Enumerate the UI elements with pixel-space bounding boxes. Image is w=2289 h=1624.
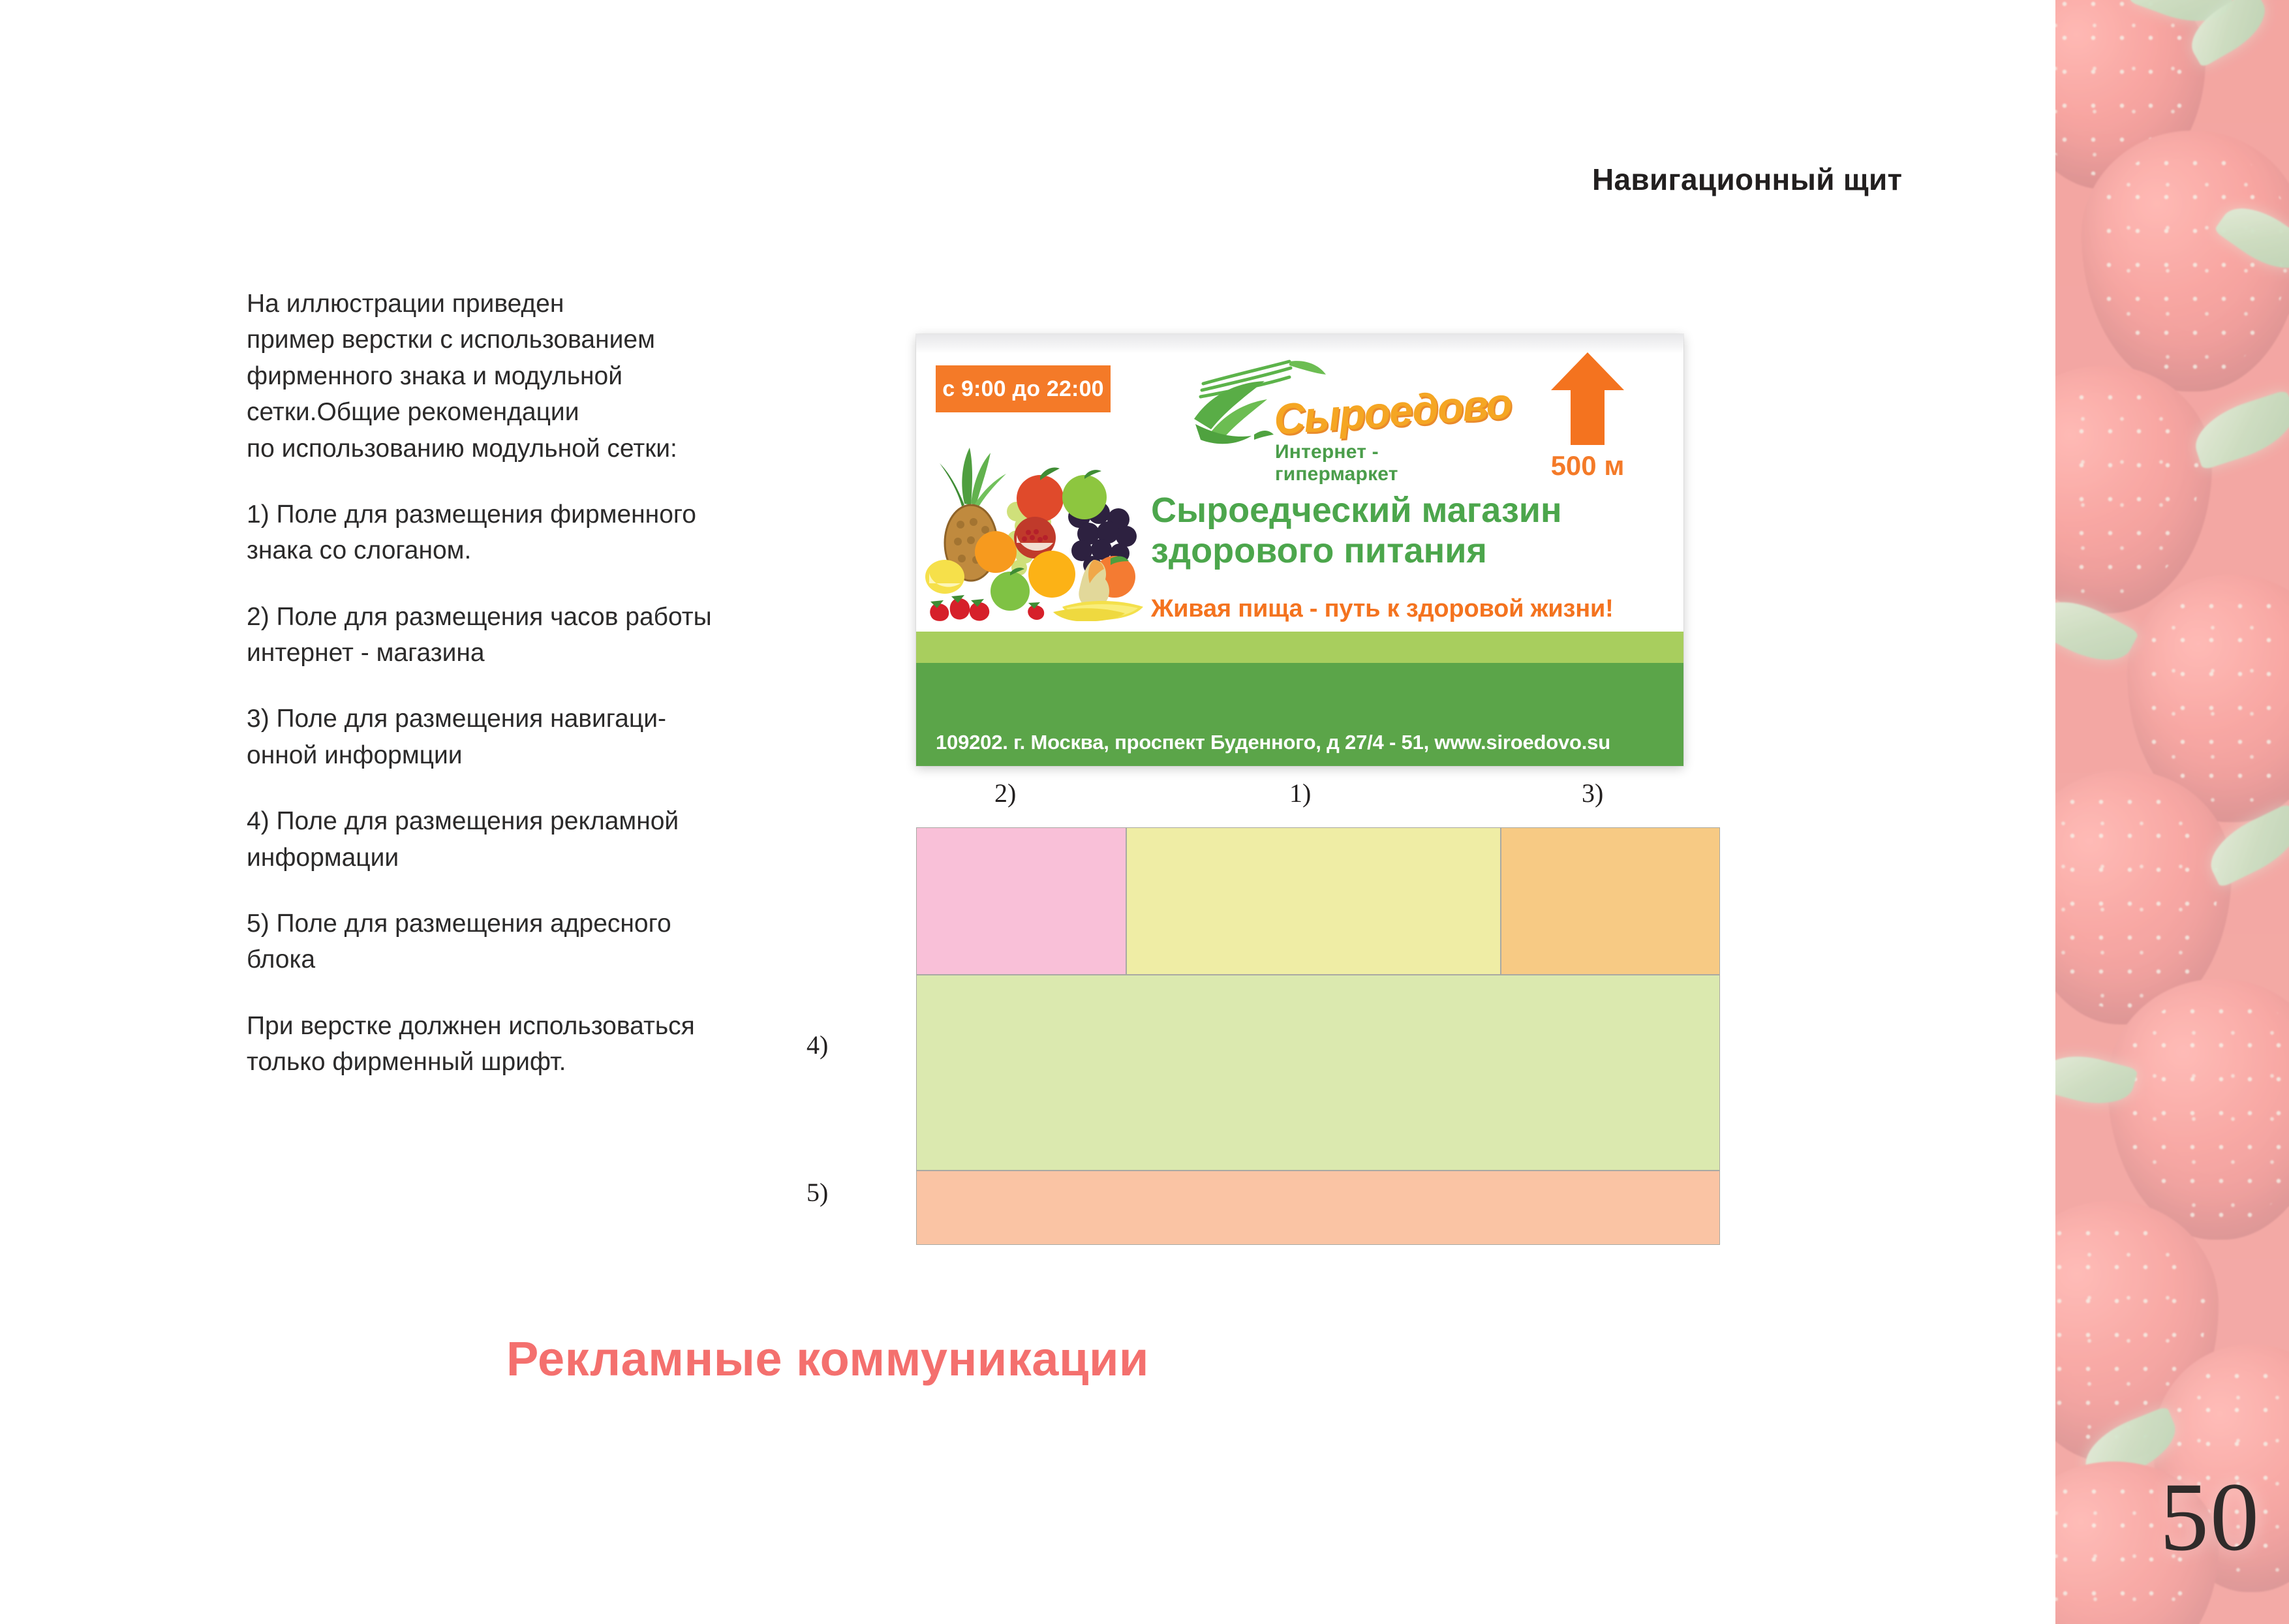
band-light-green [916, 632, 1683, 663]
billboard-address: 109202. г. Москва, проспект Буденного, д… [936, 731, 1610, 754]
description-note: При верстке должнен использоваться тольк… [247, 1008, 769, 1080]
footer-heading: Рекламные коммуникации [506, 1331, 1149, 1387]
grid-label-5: 5) [807, 1177, 828, 1208]
description-item-3: 3) Поле для размещения навигаци- онной и… [247, 701, 769, 773]
brand-subtitle: Интернет - гипермаркет [1275, 441, 1497, 485]
grid-label-4: 4) [807, 1030, 828, 1060]
description-column: На иллюстрации приведен пример верстки с… [247, 286, 769, 1080]
grid-cell-logo-field [1126, 827, 1501, 975]
billboard-mockup: с 9:00 до 22:00 Сыроедово Интернет - гип… [916, 334, 1683, 766]
description-intro: На иллюстрации приведен пример верстки с… [247, 286, 769, 467]
photo-blur-overlay [2055, 0, 2289, 1624]
description-item-1: 1) Поле для размещения фирменного знака … [247, 497, 769, 569]
hours-badge: с 9:00 до 22:00 [936, 365, 1111, 412]
grid-label-1: 1) [1289, 778, 1311, 808]
band-dark-green: 109202. г. Москва, проспект Буденного, д… [916, 663, 1683, 766]
grid-side-labels: 4) 5) [807, 827, 898, 1245]
grid-row [916, 975, 1720, 1171]
brand-logo: Сыроедово Интернет - гипермаркет [1197, 350, 1497, 467]
grid-top-labels: 2) 1) 3) [916, 778, 1683, 823]
grid-cell-nav-field [1501, 827, 1720, 975]
fruit-assortment-photo [925, 444, 1155, 621]
navigation-block: 500 м [1526, 350, 1650, 482]
grid-label-2: 2) [994, 778, 1016, 808]
grid-label-3: 3) [1582, 778, 1603, 808]
modular-grid-diagram [916, 827, 1720, 1245]
grid-cell-hours-field [916, 827, 1126, 975]
arrow-up-icon [1548, 350, 1627, 448]
page-title: Навигационный щит [1592, 162, 2010, 197]
grid-cell-address-field [916, 1171, 1720, 1245]
billboard-slogan: Живая пища - путь к здоровой жизни! [1151, 595, 1673, 623]
strawberry-photo-strip: 50 [2055, 0, 2289, 1624]
description-item-5: 5) Поле для размещения адресного блока [247, 906, 769, 978]
billboard-canvas: с 9:00 до 22:00 Сыроедово Интернет - гип… [916, 334, 1683, 766]
description-item-2: 2) Поле для размещения часов работы инте… [247, 599, 769, 671]
fruit-illustration [925, 444, 1155, 621]
description-item-4: 4) Поле для размещения рекламной информа… [247, 803, 769, 876]
grid-row [916, 827, 1720, 975]
billboard-headline: Сыроедческий магазин здорового питания [1151, 491, 1667, 571]
navigation-distance: 500 м [1526, 450, 1650, 482]
grid-cell-ad-field [916, 975, 1720, 1171]
grid-row [916, 1171, 1720, 1245]
page-number: 50 [2160, 1473, 2260, 1561]
